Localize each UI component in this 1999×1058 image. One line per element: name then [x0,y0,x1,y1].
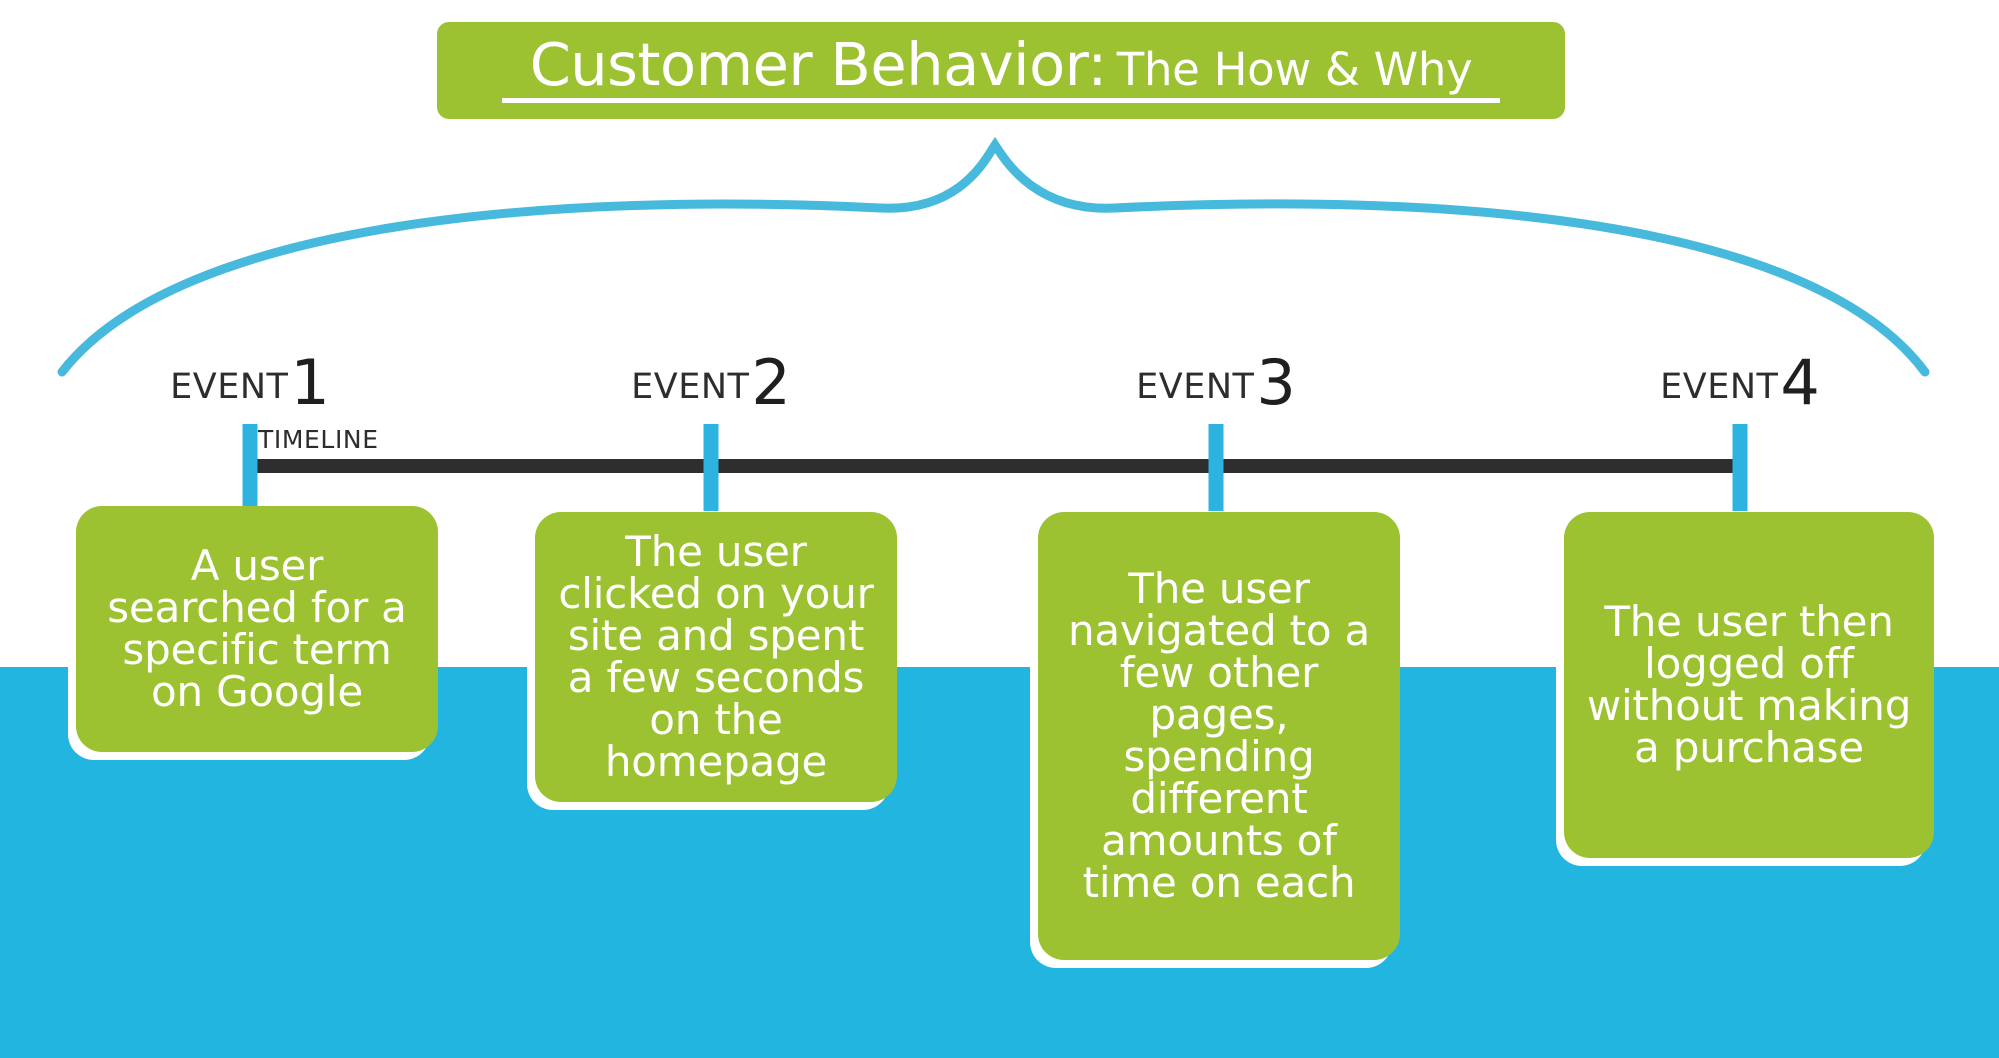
timeline-tick-4 [1733,424,1748,511]
event-word: EVENT [1136,367,1254,407]
timeline-tick-2 [704,424,719,511]
event-number: 2 [751,358,790,408]
event-number: 3 [1256,358,1295,408]
page-title-underline: Customer Behavior:The How & Why [502,35,1501,103]
page-title-subtitle: The How & Why [1117,43,1473,96]
event-card-text: The user navigated to a few other pages,… [1056,568,1382,904]
event-card-text: The user then logged off without making … [1582,601,1916,769]
event-card-text: A user searched for a specific term on G… [94,545,420,713]
event-label-4: EVENT4 [1660,352,1820,407]
event-card-4[interactable]: The user then logged off without making … [1564,512,1934,858]
event-card-text: The user clicked on your site and spent … [553,531,879,783]
timeline-axis-bar [250,459,1740,473]
event-word: EVENT [170,367,288,407]
event-card-2[interactable]: The user clicked on your site and spent … [535,512,897,802]
event-card-3[interactable]: The user navigated to a few other pages,… [1038,512,1400,960]
event-card-1[interactable]: A user searched for a specific term on G… [76,506,438,752]
event-label-2: EVENT2 [631,352,791,407]
event-card-body: The user then logged off without making … [1564,512,1934,858]
timeline-label: TIMELINE [258,425,379,454]
event-word: EVENT [631,367,749,407]
event-card-body: A user searched for a specific term on G… [76,506,438,752]
page-title-main: Customer Behavior: [530,30,1107,99]
event-card-body: The user navigated to a few other pages,… [1038,512,1400,960]
event-card-body: The user clicked on your site and spent … [535,512,897,802]
event-number: 1 [290,358,329,408]
timeline-tick-3 [1209,424,1224,511]
timeline-tick-1 [243,424,258,511]
page-title-banner: Customer Behavior:The How & Why [437,22,1565,119]
event-word: EVENT [1660,367,1778,407]
event-number: 4 [1780,358,1819,408]
event-label-3: EVENT3 [1136,352,1296,407]
event-label-1: EVENT1 [170,352,330,407]
